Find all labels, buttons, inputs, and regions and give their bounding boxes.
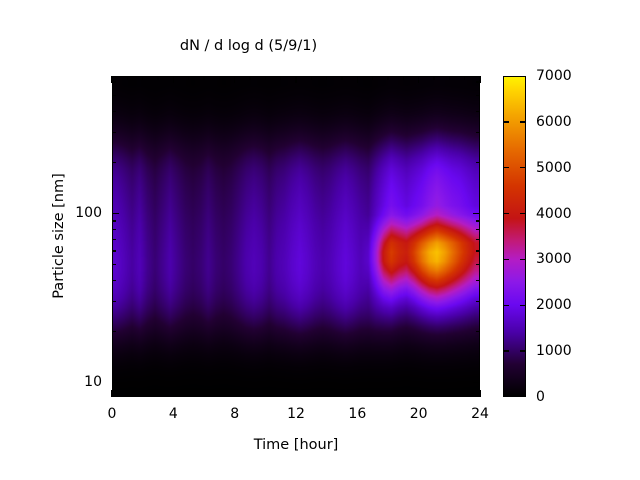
x-axis-tick	[357, 390, 358, 397]
x-axis-tick	[265, 393, 266, 397]
x-axis-tick-label: 8	[205, 406, 265, 422]
x-axis-tick	[111, 390, 112, 397]
colorbar-tick	[503, 350, 509, 352]
y-axis-tick-minor-right	[476, 81, 480, 82]
colorbar-tick-right	[520, 213, 526, 215]
x-axis-tick	[142, 393, 143, 397]
y-axis-tick-minor	[112, 239, 116, 240]
x-axis-tick	[433, 393, 434, 397]
y-axis-tick-label: 10	[42, 374, 102, 390]
x-axis-tick-top	[311, 76, 312, 80]
heatmap-plot-area[interactable]	[112, 76, 480, 397]
y-axis-tick-major	[112, 382, 119, 383]
colorbar-tick-right	[520, 167, 526, 169]
x-axis-tick-top	[341, 76, 342, 80]
x-axis-tick-label: 0	[82, 406, 142, 422]
colorbar-tick-right	[520, 305, 526, 307]
y-axis-tick-major	[112, 213, 119, 214]
figure-canvas: dN / d log d (5/9/1) 0481216202410100 Ti…	[0, 0, 640, 480]
x-axis-tick-top	[464, 76, 465, 80]
x-axis-tick	[203, 393, 204, 397]
y-axis-tick-minor-right	[476, 229, 480, 230]
x-axis-tick-top	[387, 76, 388, 80]
x-axis-tick	[464, 393, 465, 397]
y-axis-tick-minor-right	[476, 264, 480, 265]
x-axis-tick-top	[372, 76, 373, 80]
colorbar-tick-right	[520, 350, 526, 352]
y-axis-tick-minor-right	[476, 250, 480, 251]
x-axis-title: Time [hour]	[112, 437, 480, 453]
colorbar-tick-label: 0	[536, 389, 545, 405]
y-axis-tick-minor	[112, 81, 116, 82]
x-axis-tick	[387, 393, 388, 397]
x-axis-tick	[173, 390, 174, 397]
y-axis-tick-minor	[112, 95, 116, 96]
x-axis-tick	[311, 393, 312, 397]
x-axis-tick-top	[203, 76, 204, 80]
y-axis-tick-minor	[112, 220, 116, 221]
y-axis-tick-minor-right	[476, 162, 480, 163]
x-axis-tick	[479, 390, 480, 397]
colorbar[interactable]	[503, 76, 526, 397]
y-axis-tick-minor	[112, 389, 116, 390]
colorbar-tick-right	[520, 259, 526, 261]
x-axis-tick	[341, 393, 342, 397]
colorbar-tick	[503, 121, 509, 123]
x-axis-tick-top	[219, 76, 220, 80]
y-axis-tick-minor-right	[476, 280, 480, 281]
x-axis-tick-top	[157, 76, 158, 80]
y-axis-title: Particle size [nm]	[51, 136, 67, 336]
x-axis-tick	[157, 393, 158, 397]
y-axis-tick-major-right	[473, 213, 480, 214]
x-axis-tick-top	[326, 76, 327, 80]
y-axis-tick-minor	[112, 250, 116, 251]
x-axis-tick	[188, 393, 189, 397]
y-axis-tick-minor-right	[476, 111, 480, 112]
y-axis-tick-minor	[112, 280, 116, 281]
x-axis-tick-label: 16	[327, 406, 387, 422]
x-axis-tick	[234, 390, 235, 397]
y-axis-tick-minor	[112, 264, 116, 265]
x-axis-tick	[326, 393, 327, 397]
colorbar-tick	[503, 259, 509, 261]
x-axis-tick	[219, 393, 220, 397]
y-axis-tick-major-right	[473, 382, 480, 383]
x-axis-tick-label: 4	[143, 406, 203, 422]
y-axis-tick-minor	[112, 301, 116, 302]
y-axis-tick-minor-right	[476, 95, 480, 96]
x-axis-tick-top	[265, 76, 266, 80]
colorbar-tick-label: 3000	[536, 251, 572, 267]
colorbar-tick-label: 1000	[536, 343, 572, 359]
x-axis-tick-top	[280, 76, 281, 80]
colorbar-tick-right	[520, 121, 526, 123]
x-axis-tick-label: 20	[389, 406, 449, 422]
colorbar-tick-label: 2000	[536, 297, 572, 313]
y-axis-tick-minor-right	[476, 301, 480, 302]
y-axis-tick-minor-right	[476, 389, 480, 390]
x-axis-tick	[249, 393, 250, 397]
x-axis-tick-label: 12	[266, 406, 326, 422]
x-axis-tick	[127, 393, 128, 397]
x-axis-tick-top	[188, 76, 189, 80]
x-axis-tick	[418, 390, 419, 397]
y-axis-tick-minor-right	[476, 239, 480, 240]
x-axis-tick	[280, 393, 281, 397]
x-axis-tick-top	[295, 76, 296, 83]
x-axis-tick	[295, 390, 296, 397]
colorbar-tick-label: 4000	[536, 206, 572, 222]
y-axis-tick-minor	[112, 229, 116, 230]
y-axis-tick-minor	[112, 132, 116, 133]
colorbar-tick	[503, 305, 509, 307]
page-title: dN / d log d (5/9/1)	[0, 38, 497, 54]
colorbar-tick	[503, 213, 509, 215]
x-axis-tick-top	[418, 76, 419, 83]
x-axis-tick-top	[249, 76, 250, 80]
y-axis-tick-minor	[112, 111, 116, 112]
x-axis-tick	[449, 393, 450, 397]
x-axis-tick-label: 24	[450, 406, 510, 422]
x-axis-tick	[372, 393, 373, 397]
x-axis-tick	[403, 393, 404, 397]
colorbar-gradient	[504, 77, 525, 396]
y-axis-tick-minor-right	[476, 132, 480, 133]
y-axis-tick-minor	[112, 331, 116, 332]
colorbar-tick-label: 7000	[536, 68, 572, 84]
y-axis-tick-minor	[112, 162, 116, 163]
x-axis-tick-top	[234, 76, 235, 83]
y-axis-tick-minor-right	[476, 331, 480, 332]
x-axis-tick-top	[357, 76, 358, 83]
heatmap-image	[113, 77, 479, 396]
colorbar-tick	[503, 167, 509, 169]
x-axis-tick-top	[449, 76, 450, 80]
x-axis-tick-top	[142, 76, 143, 80]
x-axis-tick-top	[127, 76, 128, 80]
x-axis-tick-top	[403, 76, 404, 80]
x-axis-tick-top	[433, 76, 434, 80]
colorbar-tick-label: 6000	[536, 114, 572, 130]
x-axis-tick-top	[173, 76, 174, 83]
colorbar-tick-label: 5000	[536, 160, 572, 176]
y-axis-tick-minor-right	[476, 220, 480, 221]
